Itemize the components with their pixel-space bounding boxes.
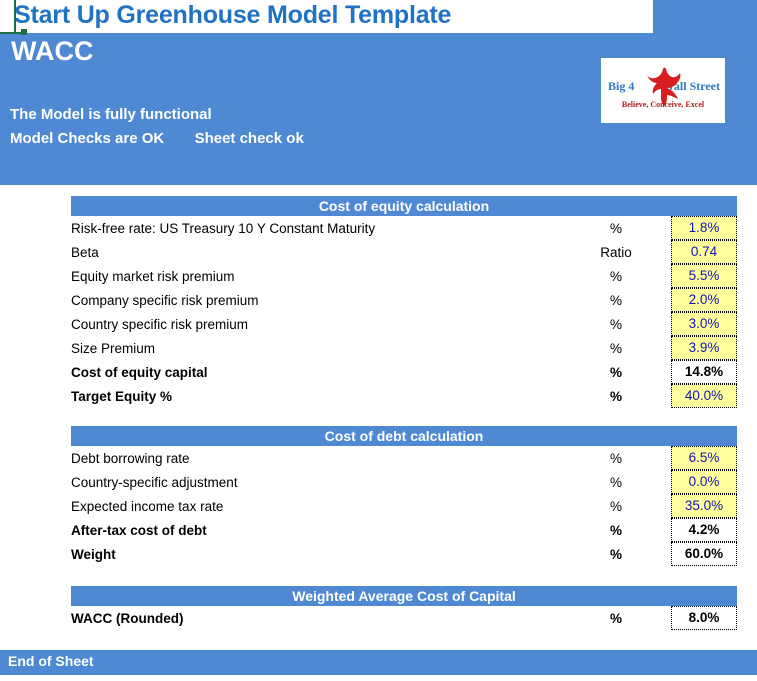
logo-inner: Big 4 Wall Street Believe, Conceive, Exc…	[601, 58, 725, 123]
row-value-cell[interactable]: 1.8%	[671, 216, 737, 240]
row-value: 60.0%	[671, 542, 737, 566]
row-unit: %	[561, 494, 671, 518]
row-unit: %	[561, 518, 671, 542]
row-value-cell[interactable]: 0.0%	[671, 470, 737, 494]
page-header: Start Up Greenhouse Model Template WACC …	[0, 0, 757, 185]
row-value-cell[interactable]: 14.8%	[671, 360, 737, 384]
cost-of-debt-table: Debt borrowing rate % 6.5% Country-speci…	[71, 446, 737, 566]
footer-bar	[0, 650, 757, 675]
row-label: Country specific risk premium	[71, 312, 561, 336]
row-value[interactable]: 5.5%	[671, 264, 737, 288]
block-wacc: Weighted Average Cost of Capital WACC (R…	[71, 586, 737, 630]
table-row: Company specific risk premium % 2.0%	[71, 288, 737, 312]
row-unit: %	[561, 336, 671, 360]
cost-of-equity-table: Risk-free rate: US Treasury 10 Y Constan…	[71, 216, 737, 408]
active-cell-marker-handle[interactable]	[21, 29, 27, 35]
row-label: After-tax cost of debt	[71, 518, 561, 542]
sheet-body: Cost of equity calculation Risk-free rat…	[0, 185, 757, 650]
row-value-cell[interactable]: 4.2%	[671, 518, 737, 542]
row-value-cell[interactable]: 0.74	[671, 240, 737, 264]
table-row: Risk-free rate: US Treasury 10 Y Constan…	[71, 216, 737, 240]
wacc-table: WACC (Rounded) % 8.0%	[71, 606, 737, 630]
table-row: Beta Ratio 0.74	[71, 240, 737, 264]
row-label: Risk-free rate: US Treasury 10 Y Constan…	[71, 216, 561, 240]
row-label: Size Premium	[71, 336, 561, 360]
row-value[interactable]: 2.0%	[671, 288, 737, 312]
table-row: Weight % 60.0%	[71, 542, 737, 566]
row-label: Debt borrowing rate	[71, 446, 561, 470]
table-row: Country specific risk premium % 3.0%	[71, 312, 737, 336]
row-value[interactable]: 3.0%	[671, 312, 737, 336]
row-label: WACC (Rounded)	[71, 606, 561, 630]
row-value[interactable]: 0.74	[671, 240, 737, 264]
row-unit: %	[561, 264, 671, 288]
row-unit: %	[561, 446, 671, 470]
row-unit: %	[561, 312, 671, 336]
table-row: Country-specific adjustment % 0.0%	[71, 470, 737, 494]
row-value-cell[interactable]: 40.0%	[671, 384, 737, 408]
row-value-cell[interactable]: 8.0%	[671, 606, 737, 630]
row-label: Target Equity %	[71, 384, 561, 408]
row-label: Country-specific adjustment	[71, 470, 561, 494]
model-check-status: Model Checks are OK	[10, 130, 164, 147]
row-value[interactable]: 1.8%	[671, 216, 737, 240]
logo-text-left: Big 4	[608, 79, 634, 94]
table-row: Size Premium % 3.9%	[71, 336, 737, 360]
block-cost-of-equity: Cost of equity calculation Risk-free rat…	[71, 196, 737, 408]
row-label: Weight	[71, 542, 561, 566]
footer-strip	[0, 675, 757, 681]
row-value[interactable]: 0.0%	[671, 470, 737, 494]
row-label: Expected income tax rate	[71, 494, 561, 518]
model-check-row: Model Checks are OK Sheet check ok	[10, 130, 304, 147]
row-label: Equity market risk premium	[71, 264, 561, 288]
row-label: Company specific risk premium	[71, 288, 561, 312]
row-value-cell[interactable]: 35.0%	[671, 494, 737, 518]
row-label: Cost of equity capital	[71, 360, 561, 384]
page-title: Start Up Greenhouse Model Template	[14, 1, 451, 30]
row-value-cell[interactable]: 2.0%	[671, 288, 737, 312]
block-heading: Cost of equity calculation	[71, 196, 737, 216]
row-value[interactable]: 3.9%	[671, 336, 737, 360]
row-unit: %	[561, 360, 671, 384]
block-cost-of-debt: Cost of debt calculation Debt borrowing …	[71, 426, 737, 566]
table-row: Equity market risk premium % 5.5%	[71, 264, 737, 288]
row-value-cell[interactable]: 5.5%	[671, 264, 737, 288]
row-value: 8.0%	[671, 606, 737, 630]
row-value: 14.8%	[671, 360, 737, 384]
model-functional-note: The Model is fully functional	[10, 106, 212, 123]
row-unit: %	[561, 384, 671, 408]
row-unit: %	[561, 288, 671, 312]
logo-tagline: Believe, Conceive, Excel	[601, 100, 725, 109]
table-row: Expected income tax rate % 35.0%	[71, 494, 737, 518]
table-row: Target Equity % % 40.0%	[71, 384, 737, 408]
row-unit: %	[561, 542, 671, 566]
row-value-cell[interactable]: 60.0%	[671, 542, 737, 566]
row-value[interactable]: 6.5%	[671, 446, 737, 470]
table-row: Debt borrowing rate % 6.5%	[71, 446, 737, 470]
row-value: 4.2%	[671, 518, 737, 542]
row-value-cell[interactable]: 3.9%	[671, 336, 737, 360]
end-of-sheet-label: End of Sheet	[8, 653, 94, 669]
row-unit: %	[561, 216, 671, 240]
active-cell-marker-vertical	[14, 0, 16, 33]
row-value[interactable]: 35.0%	[671, 494, 737, 518]
sheet-check-status: Sheet check ok	[195, 130, 304, 147]
row-value-cell[interactable]: 6.5%	[671, 446, 737, 470]
row-label: Beta	[71, 240, 561, 264]
company-logo: Big 4 Wall Street Believe, Conceive, Exc…	[601, 58, 725, 123]
row-unit: %	[561, 470, 671, 494]
table-row: Cost of equity capital % 14.8%	[71, 360, 737, 384]
row-unit: Ratio	[561, 240, 671, 264]
block-heading: Cost of debt calculation	[71, 426, 737, 446]
block-heading: Weighted Average Cost of Capital	[71, 586, 737, 606]
row-value[interactable]: 40.0%	[671, 384, 737, 408]
table-row: WACC (Rounded) % 8.0%	[71, 606, 737, 630]
sheet-subtitle: WACC	[11, 36, 94, 67]
row-unit: %	[561, 606, 671, 630]
row-value-cell[interactable]: 3.0%	[671, 312, 737, 336]
table-row: After-tax cost of debt % 4.2%	[71, 518, 737, 542]
